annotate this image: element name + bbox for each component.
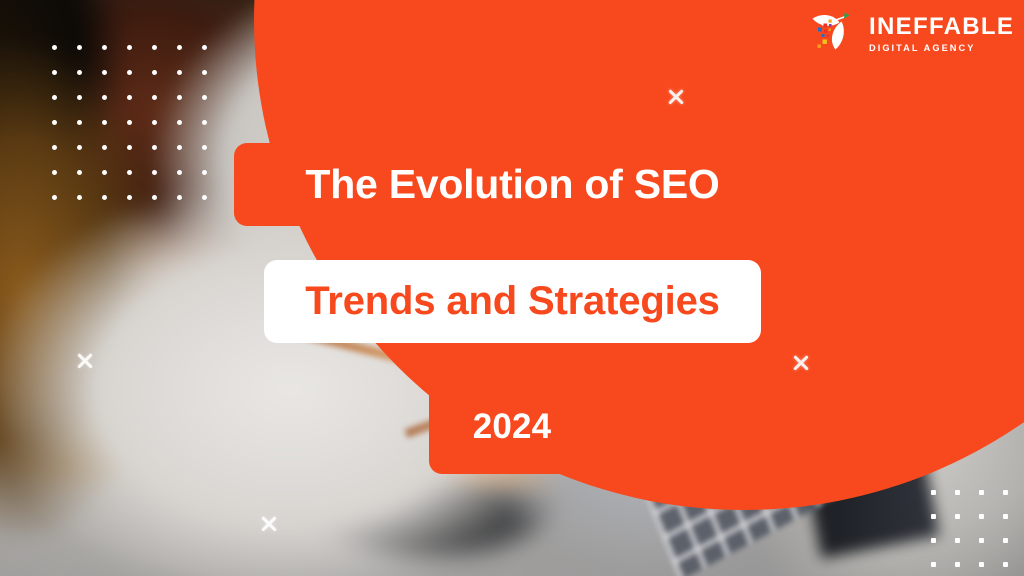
x-mark-icon-bottom (258, 513, 280, 535)
logo-wordmark: INEFFABLE DIGITAL AGENCY (869, 15, 1014, 53)
brand-logo: INEFFABLE DIGITAL AGENCY (808, 8, 1014, 60)
x-mark-icon-top-center (665, 86, 687, 108)
x-mark-icon-right (790, 352, 812, 374)
x-mark-icon-left (74, 350, 96, 372)
year-banner: 2024 (429, 379, 595, 474)
dot-grid-icon-bottom-right (931, 490, 1024, 576)
subtitle-text: Trends and Strategies (305, 279, 720, 324)
title-banner: The Evolution of SEO (234, 143, 791, 226)
logo-tagline: DIGITAL AGENCY (869, 44, 1014, 53)
subtitle-banner: Trends and Strategies (264, 260, 761, 343)
title-text: The Evolution of SEO (305, 161, 719, 208)
leaf-sprout-icon (808, 8, 860, 60)
presentation-slide: INEFFABLE DIGITAL AGENCY The Evolution o… (0, 0, 1024, 576)
year-text: 2024 (473, 407, 552, 447)
dot-grid-icon-top-left (52, 45, 207, 200)
logo-name: INEFFABLE (869, 15, 1014, 39)
